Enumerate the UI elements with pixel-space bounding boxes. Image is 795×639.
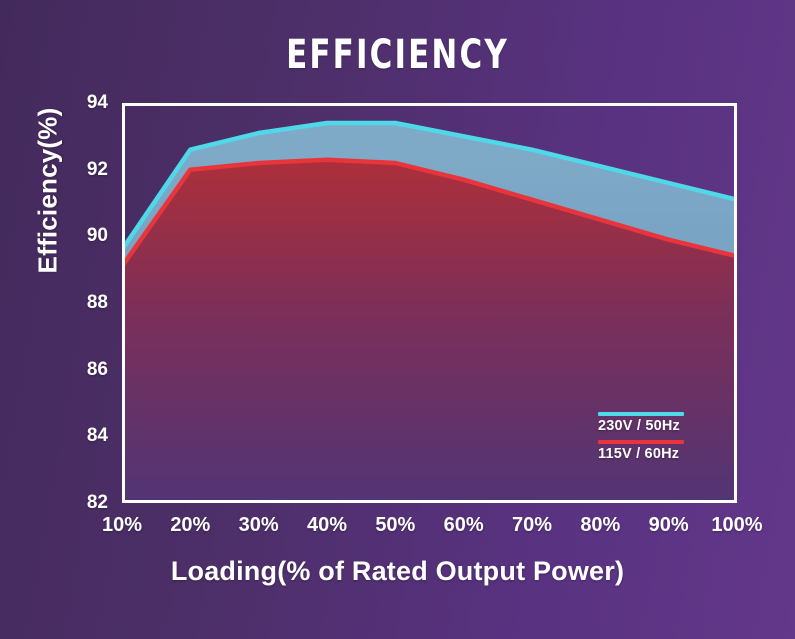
- x-tick-label: 80%: [565, 514, 635, 537]
- legend-label-230v: 230V / 50Hz: [598, 418, 718, 434]
- legend-item-230v: 230V / 50Hz: [598, 412, 718, 434]
- x-tick-label: 70%: [497, 514, 567, 537]
- legend-label-115v: 115V / 60Hz: [598, 446, 718, 462]
- y-tick-label: 88: [64, 292, 108, 314]
- legend-swatch-red: [598, 440, 684, 444]
- y-axis-title: Efficiency(%): [33, 81, 64, 301]
- x-tick-label: 60%: [429, 514, 499, 537]
- y-tick-label: 94: [64, 92, 108, 114]
- x-tick-label: 50%: [360, 514, 430, 537]
- x-axis-title: Loading(% of Rated Output Power): [0, 556, 795, 587]
- legend-swatch-cyan: [598, 412, 684, 416]
- chart-canvas: EFFICIENCY Efficiency(%) 82848688909294 …: [0, 0, 795, 639]
- page-title: EFFICIENCY: [56, 32, 740, 78]
- x-tick-label: 100%: [702, 514, 772, 537]
- legend-item-115v: 115V / 60Hz: [598, 440, 718, 462]
- legend: 230V / 50Hz 115V / 60Hz: [598, 412, 718, 468]
- y-tick-label: 92: [64, 159, 108, 181]
- x-tick-label: 30%: [224, 514, 294, 537]
- y-tick-label: 86: [64, 359, 108, 381]
- y-tick-label: 82: [64, 492, 108, 514]
- y-tick-label: 90: [64, 225, 108, 247]
- x-tick-label: 20%: [155, 514, 225, 537]
- y-tick-label: 84: [64, 425, 108, 447]
- x-tick-label: 40%: [292, 514, 362, 537]
- x-tick-label: 90%: [634, 514, 704, 537]
- x-tick-label: 10%: [87, 514, 157, 537]
